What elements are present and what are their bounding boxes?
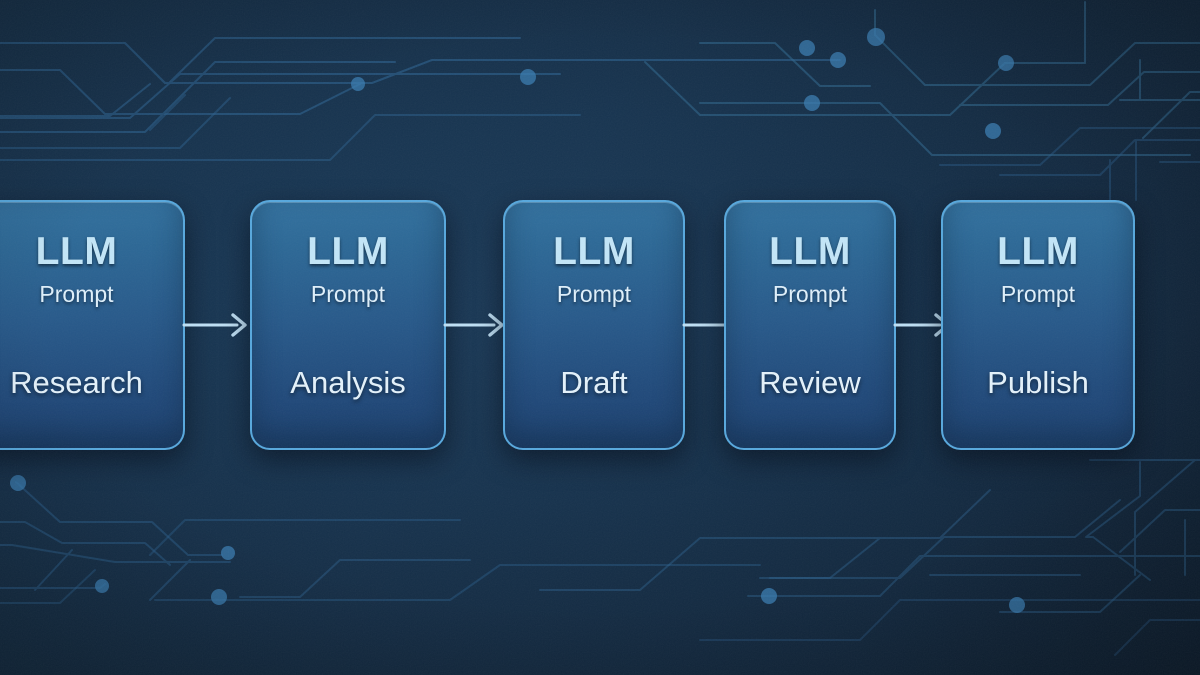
node-content: LLM Prompt Analysis: [252, 202, 444, 448]
pipeline-node-publish[interactable]: LLM Prompt Publish: [941, 200, 1135, 450]
node-subtext: Prompt: [311, 283, 385, 306]
arrow-right-icon-1: [183, 310, 251, 340]
node-heading: LLM: [307, 232, 389, 271]
pipeline-node-research[interactable]: LLM Prompt Research: [0, 200, 185, 450]
node-label: Review: [726, 367, 894, 398]
node-subtext: Prompt: [557, 283, 631, 306]
node-heading: LLM: [769, 232, 851, 271]
node-label: Research: [0, 367, 183, 398]
node-label: Analysis: [252, 367, 444, 398]
node-content: LLM Prompt Research: [0, 202, 183, 448]
node-label: Publish: [943, 367, 1133, 398]
node-heading: LLM: [997, 232, 1079, 271]
node-content: LLM Prompt Draft: [505, 202, 683, 448]
diagram-canvas: LLM Prompt Research LLM Prompt Analysis: [0, 0, 1200, 675]
pipeline-node-analysis[interactable]: LLM Prompt Analysis: [250, 200, 446, 450]
node-content: LLM Prompt Review: [726, 202, 894, 448]
node-subtext: Prompt: [39, 283, 113, 306]
pipeline-row: LLM Prompt Research LLM Prompt Analysis: [0, 0, 1200, 675]
node-heading: LLM: [553, 232, 635, 271]
node-heading: LLM: [36, 232, 118, 271]
node-content: LLM Prompt Publish: [943, 202, 1133, 448]
node-label: Draft: [505, 367, 683, 398]
arrow-right-icon-2: [444, 310, 508, 340]
node-subtext: Prompt: [773, 283, 847, 306]
node-subtext: Prompt: [1001, 283, 1075, 306]
pipeline-node-draft[interactable]: LLM Prompt Draft: [503, 200, 685, 450]
pipeline-node-review[interactable]: LLM Prompt Review: [724, 200, 896, 450]
